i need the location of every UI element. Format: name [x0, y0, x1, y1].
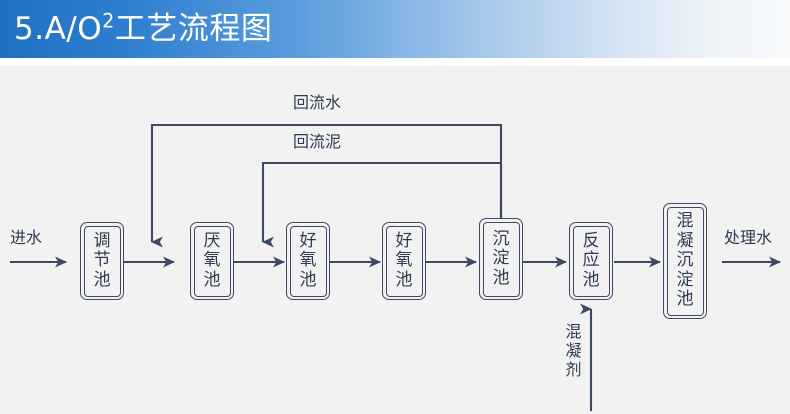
- recycle-water-label: 回流水: [293, 93, 341, 112]
- process-box-chendianchi-label: 沉淀池: [492, 230, 511, 289]
- title-banner: 5.A/O2工艺流程图: [0, 0, 790, 58]
- process-box-fanyingchi-label: 反应池: [582, 232, 601, 291]
- process-box-hunning-chendianchi[interactable]: 混凝沉淀池: [663, 203, 707, 319]
- flowchart-page: 5.A/O2工艺流程图: [0, 0, 790, 414]
- page-title-superscript: 2: [102, 10, 115, 33]
- process-box-haoyangchi-2-label: 好氧池: [395, 232, 414, 291]
- process-box-chendianchi-inner: 沉淀池: [483, 222, 520, 297]
- process-box-haoyangchi-2-inner: 好氧池: [386, 226, 423, 297]
- page-title-main: 5.A/O: [14, 11, 102, 47]
- process-box-yanyangchi[interactable]: 厌氧池: [190, 222, 234, 300]
- process-box-hunning-chendianchi-inner: 混凝沉淀池: [667, 207, 704, 316]
- process-box-fanyingchi[interactable]: 反应池: [569, 222, 613, 300]
- process-box-haoyangchi-2[interactable]: 好氧池: [382, 222, 426, 300]
- coagulant-label: 混凝剂: [565, 322, 582, 379]
- page-title-tail: 工艺流程图: [115, 11, 273, 47]
- process-box-haoyangchi-1[interactable]: 好氧池: [286, 222, 330, 300]
- process-box-yanyangchi-inner: 厌氧池: [194, 226, 231, 297]
- process-box-hunning-chendianchi-label: 混凝沉淀池: [676, 212, 695, 310]
- process-box-haoyangchi-1-label: 好氧池: [299, 232, 318, 291]
- process-box-chendianchi[interactable]: 沉淀池: [479, 218, 523, 300]
- process-box-tiaojiechi[interactable]: 调节池: [80, 222, 124, 300]
- banner-separator: [0, 58, 790, 66]
- process-flow-diagram: 调节池 厌氧池 好氧池 好氧池 沉淀池 反应池: [0, 66, 790, 414]
- inlet-label: 进水: [10, 228, 42, 247]
- page-title: 5.A/O2工艺流程图: [14, 6, 272, 52]
- process-box-fanyingchi-inner: 反应池: [573, 226, 610, 297]
- process-box-tiaojiechi-label: 调节池: [93, 232, 112, 291]
- recycle-sludge-label: 回流泥: [293, 132, 341, 151]
- outlet-label: 处理水: [724, 228, 772, 247]
- process-box-yanyangchi-label: 厌氧池: [203, 232, 222, 291]
- process-box-haoyangchi-1-inner: 好氧池: [290, 226, 327, 297]
- process-box-tiaojiechi-inner: 调节池: [84, 226, 121, 297]
